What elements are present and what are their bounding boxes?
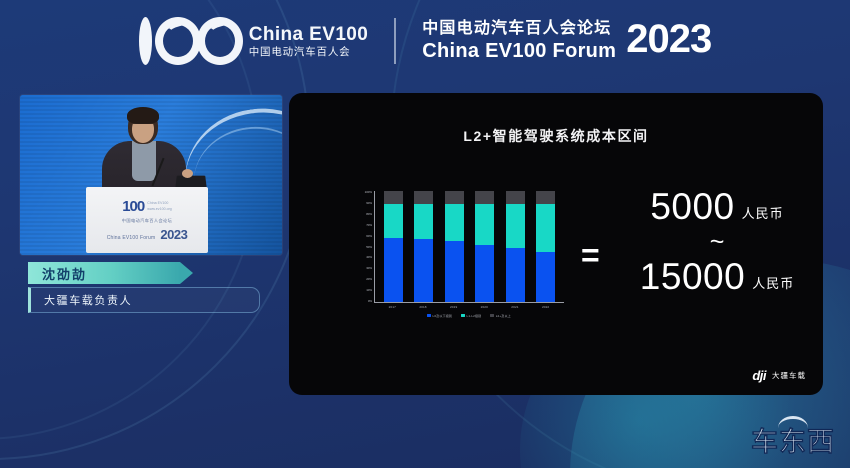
price-low-value: 5000 xyxy=(650,188,734,227)
podium-year: 2023 xyxy=(160,227,187,242)
chart-legend-label: L2+及以上 xyxy=(496,313,511,318)
chart-y-tick: 50% xyxy=(366,246,372,249)
speaker-role-box: 大疆车载负责人 xyxy=(28,287,260,313)
forum-title-lines: 中国电动汽车百人会论坛 China EV100 Forum xyxy=(422,20,616,62)
chart-legend-item: L1-L2级别 xyxy=(461,313,481,318)
chart-bar-segment xyxy=(384,238,403,302)
chart-x-tick: 2020 xyxy=(475,305,494,309)
forum-title-chinese: 中国电动汽车百人会论坛 xyxy=(422,20,616,38)
chart-y-tick: 0% xyxy=(368,300,372,303)
price-high-row: 15000 人民币 xyxy=(640,258,794,297)
price-low-currency: 人民币 xyxy=(742,207,784,227)
chart-y-tick: 40% xyxy=(366,256,372,259)
chart-bar-segment xyxy=(475,191,494,204)
dji-wordmark: dji xyxy=(752,368,766,383)
chart-bar-segment xyxy=(536,204,555,252)
podium-chinese-title: 中国电动汽车百人会论坛 xyxy=(122,218,172,224)
podium-logo: 100 China EV100 www.ev100.org xyxy=(122,198,172,215)
ev100-logo: China EV100 中国电动汽车百人会 xyxy=(139,17,369,65)
chart-legend-label: L1-L2级别 xyxy=(467,313,482,318)
presentation-slide[interactable]: L2+智能驾驶系统成本区间 100%90%80%70%60%50%40%30%2… xyxy=(289,93,823,395)
chart-legend-swatch xyxy=(461,314,464,317)
chart-bar-segment xyxy=(445,191,464,204)
chart-y-tick: 80% xyxy=(366,213,372,216)
chart-bar-segment xyxy=(445,204,464,241)
price-range-tilde: ~ xyxy=(710,230,725,255)
watermark-text: 车东西 xyxy=(751,429,835,456)
chart-bar-segment xyxy=(506,204,525,247)
chart-legend: L0及以下级别L1-L2级别L2+及以上 xyxy=(374,313,564,318)
chart-y-tick: 90% xyxy=(366,202,372,205)
screenshot-stage: China EV100 中国电动汽车百人会 中国电动汽车百人会论坛 China … xyxy=(0,0,850,468)
podium-bottom-row: China EV100 Forum 2023 xyxy=(107,227,188,242)
price-low-row: 5000 人民币 xyxy=(650,188,783,227)
chart-x-axis-labels: 201720182019202020212022 xyxy=(374,303,564,309)
price-range-block: 5000 人民币 ~ 15000 人民币 xyxy=(617,188,817,297)
chart-y-tick: 60% xyxy=(366,235,372,238)
chedongxi-watermark: 车东西 xyxy=(751,416,835,456)
chart-x-tick: 2017 xyxy=(383,305,402,309)
speaker-name-plate: 沈劭劼 大疆车载负责人 xyxy=(28,262,260,313)
chart-y-tick: 30% xyxy=(366,267,372,270)
podium-logo-number: 100 xyxy=(122,198,144,215)
chart-bar-segment xyxy=(475,245,494,302)
chart-bar-segment xyxy=(536,191,555,204)
chart-y-axis: 100%90%80%70%60%50%40%30%20%10%0% xyxy=(352,191,374,303)
chart-bar xyxy=(506,191,525,302)
chart-bar xyxy=(384,191,403,302)
chart-bar-segment xyxy=(414,204,433,238)
chart-y-tick: 100% xyxy=(365,191,372,194)
chart-x-tick: 2022 xyxy=(536,305,555,309)
chart-bar-segment xyxy=(506,248,525,302)
chart-bars xyxy=(374,191,564,303)
logo-wordmark: China EV100 中国电动汽车百人会 xyxy=(241,25,369,58)
header-divider xyxy=(394,18,396,64)
chart-bar-segment xyxy=(475,204,494,245)
price-high-value: 15000 xyxy=(640,258,745,297)
forum-title-block: 中国电动汽车百人会论坛 China EV100 Forum 2023 xyxy=(422,20,711,62)
chart-bar-segment xyxy=(414,191,433,204)
logo-100-glyph xyxy=(139,17,239,65)
chart-bar xyxy=(475,191,494,302)
chart-legend-swatch xyxy=(427,314,430,317)
equals-sign: = xyxy=(581,239,600,271)
chart-y-tick: 20% xyxy=(366,278,372,281)
chart-y-tick: 10% xyxy=(366,289,372,292)
speaker-role: 大疆车载负责人 xyxy=(44,292,132,308)
chart-bar-segment xyxy=(506,191,525,204)
chart-bar xyxy=(414,191,433,302)
podium: 100 China EV100 www.ev100.org 中国电动汽车百人会论… xyxy=(86,187,208,253)
podium-logo-side: China EV100 www.ev100.org xyxy=(147,201,172,212)
speaker-hair xyxy=(127,107,159,124)
forum-title-english: China EV100 Forum xyxy=(422,40,616,62)
chart-x-tick: 2018 xyxy=(413,305,432,309)
logo-digit-zero xyxy=(197,17,243,65)
podium-english-title: China EV100 Forum xyxy=(107,235,156,242)
chart-bar-segment xyxy=(414,239,433,302)
logo-english-name: China EV100 xyxy=(249,25,369,44)
dji-chinese-name: 大疆车载 xyxy=(772,370,806,381)
chart-legend-item: L0及以下级别 xyxy=(427,313,452,318)
chart-bar xyxy=(536,191,555,302)
speaker-hand xyxy=(182,169,193,178)
forum-year: 2023 xyxy=(626,21,711,61)
event-header: China EV100 中国电动汽车百人会 中国电动汽车百人会论坛 China … xyxy=(0,0,850,82)
chart-legend-item: L2+及以上 xyxy=(490,313,511,318)
chart-bar-segment xyxy=(384,204,403,237)
logo-digit-one xyxy=(139,17,152,65)
podium-side-line2: www.ev100.org xyxy=(147,207,172,212)
chart-bar xyxy=(445,191,464,302)
chart-y-tick: 70% xyxy=(366,224,372,227)
dji-brand-logo: dji 大疆车载 xyxy=(752,368,806,383)
chart-plot-area: 100%90%80%70%60%50%40%30%20%10%0% xyxy=(352,191,564,303)
cost-breakdown-chart: 100%90%80%70%60%50%40%30%20%10%0% 201720… xyxy=(352,191,564,326)
speaker-video-panel[interactable]: 100 China EV100 www.ev100.org 中国电动汽车百人会论… xyxy=(20,95,282,255)
slide-title: L2+智能驾驶系统成本区间 xyxy=(289,126,823,146)
speaker-name: 沈劭劼 xyxy=(42,264,87,283)
podium-side-line1: China EV100 xyxy=(147,201,172,206)
logo-chinese-name: 中国电动汽车百人会 xyxy=(249,47,369,58)
chart-bar-segment xyxy=(445,241,464,302)
speaker-shirt xyxy=(132,141,156,181)
price-high-currency: 人民币 xyxy=(752,277,794,297)
chart-bar-segment xyxy=(384,191,403,204)
logo-digit-zero xyxy=(155,17,201,65)
chart-bar-segment xyxy=(536,252,555,302)
chart-legend-swatch xyxy=(490,314,493,317)
speaker-name-banner: 沈劭劼 xyxy=(28,262,180,284)
speaker-glasses xyxy=(133,123,153,128)
chart-x-tick: 2019 xyxy=(444,305,463,309)
chart-x-tick: 2021 xyxy=(505,305,524,309)
chart-legend-label: L0及以下级别 xyxy=(433,313,453,318)
